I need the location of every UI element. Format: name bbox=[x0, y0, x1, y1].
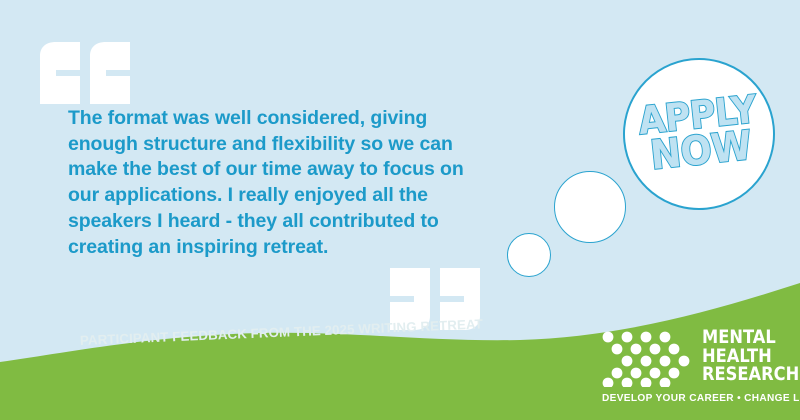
logo-word-line-1: MENTAL bbox=[702, 329, 799, 348]
open-quote-mark bbox=[40, 42, 132, 104]
testimonial-quote-text: The format was well considered, giving e… bbox=[68, 106, 486, 260]
logo-wordmark: MENTAL HEALTH RESEARCH bbox=[702, 329, 799, 385]
apply-now-line-2: NOW bbox=[649, 128, 754, 175]
decorative-circle-large bbox=[554, 171, 626, 243]
logo-tagline: DEVELOP YOUR CAREER • CHANGE LIVES bbox=[602, 393, 800, 404]
dot-chevron-icon bbox=[602, 331, 690, 387]
organisation-logo: MENTAL HEALTH RESEARCH DEVELOP YOUR CARE… bbox=[602, 331, 800, 404]
promo-graphic: APPLY NOW The format was well considered… bbox=[0, 0, 800, 420]
decorative-circle-small bbox=[507, 233, 551, 277]
logo-word-line-3: RESEARCH bbox=[702, 366, 799, 385]
